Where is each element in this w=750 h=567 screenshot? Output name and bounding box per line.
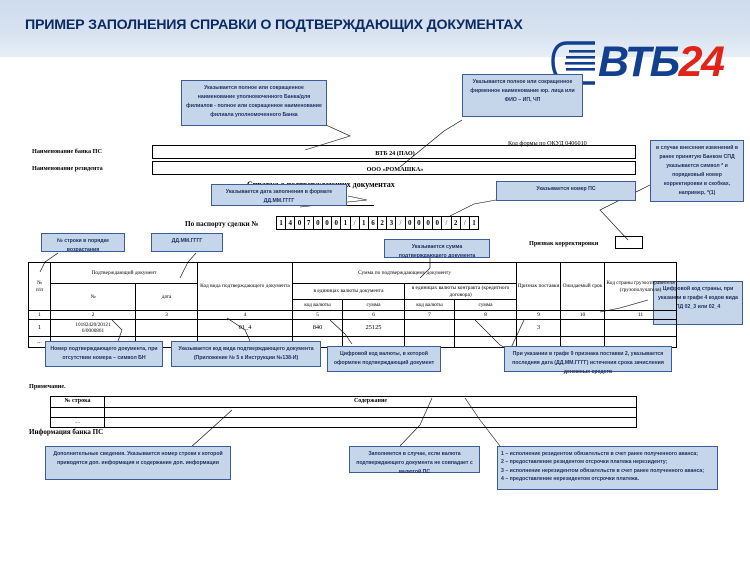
cell-delivery[interactable]: 3 [517,320,561,337]
label-resident-name: Наименование резидента [32,165,103,172]
note-delivery-legend: 1 – исполнение резидентом обязательств в… [497,446,718,490]
cell-doc_type[interactable]: 01_4 [198,320,293,337]
cell-doc_num[interactable]: 10182420/201216/0000861 [51,320,136,337]
col-number-1: 1 [29,311,51,320]
th-country: Код страны грузоотправителя (грузополуча… [605,263,677,311]
delivery-legend-text: 1 – исполнение резидентом обязательств в… [501,451,704,482]
bank-info-label: Информация банка ПС [29,428,103,436]
cell-cur_code2[interactable] [405,320,455,337]
note-ps-number: Указывается номер ПС [496,181,636,201]
col-number-7: 7 [405,311,455,320]
th-sum-doc-currency: в единицах валюты документа [293,284,405,300]
page-title: ПРИМЕР ЗАПОЛНЕНИЯ СПРАВКИ О ПОДТВЕРЖДАЮЩ… [25,17,523,33]
logo-text-blue: ВТБ [598,38,679,86]
field-resident-name-value: ООО «РОМАШКА» [153,166,637,173]
col-number-10: 10 [561,311,605,320]
th-amount-1: сумма [343,300,405,311]
field-resident-name[interactable]: ООО «РОМАШКА» [152,161,636,175]
cell-country[interactable] [605,320,677,337]
th-delivery: Признак поставки [517,263,561,311]
note-table: № строка Содержание .... [50,396,637,428]
th-doc: Подтверждающий документ [51,263,198,284]
th-doc-num: № [51,284,136,311]
th-num-l2: п/п [36,287,43,293]
field-bank-name-value: ВТБ 24 (ПАО) [153,150,637,157]
th-note-row: № строка [51,397,105,408]
th-doc-type: Код вида подтверждающего документа [198,263,293,311]
cell-num[interactable]: 1 [29,320,51,337]
document-page: ПРИМЕР ЗАПОЛНЕНИЯ СПРАВКИ О ПОДТВЕРЖДАЮЩ… [0,0,750,567]
table-row[interactable]: 110182420/201216/000086101_4840251253 [29,320,677,337]
note-fill-date: Указывается дата заполнения в формате ДД… [211,184,347,206]
cell-amount[interactable]: 25125 [343,320,405,337]
col-number-6: 6 [343,311,405,320]
th-cur-code-1: код валюты [293,300,343,311]
col-number-5: 5 [293,311,343,320]
note-cell-row[interactable]: .... [51,418,105,428]
th-sum-contract-currency: в единицах валюты контракта (кредитного … [405,284,517,300]
logo-wordmark: ВТБ24 [598,34,723,90]
th-doc-date: дата [136,284,198,311]
note-date-format: ДД.ММ.ГГГГ [151,233,223,252]
th-amount-2: сумма [455,300,517,311]
correction-field[interactable] [615,236,643,249]
note-resident-name: Указывается полное или сокращенное фирме… [462,74,583,117]
th-num: №п/п [29,263,51,311]
correction-label: Признак корректировки [529,240,598,247]
note-doc-number: Номер подтверждающего документа, при отс… [45,341,163,367]
column-number-row: 1234567891011 [29,311,677,320]
ps-number-boxes[interactable]: 14070001/1623/0000/2/1 [277,216,479,230]
th-sum-group: Сумма по подтверждающему документу [293,263,517,284]
note-cell-content[interactable] [105,408,637,418]
note-additional-info: Дополнительные сведения. Указывается ном… [45,446,231,480]
note-bank-name: Указывается полное или сокращенное наиме… [181,80,327,126]
note-correction: в случае внесения изменений в ранее прин… [650,140,744,202]
field-bank-name[interactable]: ВТБ 24 (ПАО) [152,145,636,159]
ps-label: По паспорту сделки № [185,220,259,228]
col-number-4: 4 [198,311,293,320]
note-table-row[interactable] [51,408,637,418]
th-num-l1: № [37,280,42,286]
col-number-11: 11 [605,311,677,320]
th-term: Ожидаемый срок [561,263,605,311]
th-cur-code-2: код валюты [405,300,455,311]
cell-amount2[interactable] [455,320,517,337]
cell-cur_code[interactable]: 840 [293,320,343,337]
note-row-order: № строки в порядке возрастания [41,233,125,252]
note-doc-sum: Указывается сумма подтверждающего докуме… [384,239,490,258]
note-cell-row[interactable] [51,408,105,418]
confirming-documents-table: №п/п Подтверждающий документ Код вида по… [28,262,677,348]
col-number-2: 2 [51,311,136,320]
note-table-row[interactable]: .... [51,418,637,428]
col-number-9: 9 [517,311,561,320]
note-currency-code: Цифровой код валюты, в которой оформлен … [327,346,441,372]
logo-text-red: 24 [679,38,724,86]
note-doc-type-code: Указывается код вида подтверждающего док… [171,341,321,367]
note-table-body: .... [51,408,637,428]
note-cell-content[interactable] [105,418,637,428]
col-number-3: 3 [136,311,198,320]
note-label: Примечание. [29,383,66,390]
ps-digit-21[interactable]: 1 [469,216,479,230]
th-note-content: Содержание [105,397,637,408]
note-expected-term: При указании в графе 9 признака поставки… [504,346,672,372]
cell-doc_date[interactable] [136,320,198,337]
cell-term[interactable] [561,320,605,337]
label-bank-name: Наименование банка ПС [32,148,102,155]
note-currency-mismatch: Заполняется в случае, если валюта подтве… [349,446,480,473]
col-number-8: 8 [455,311,517,320]
